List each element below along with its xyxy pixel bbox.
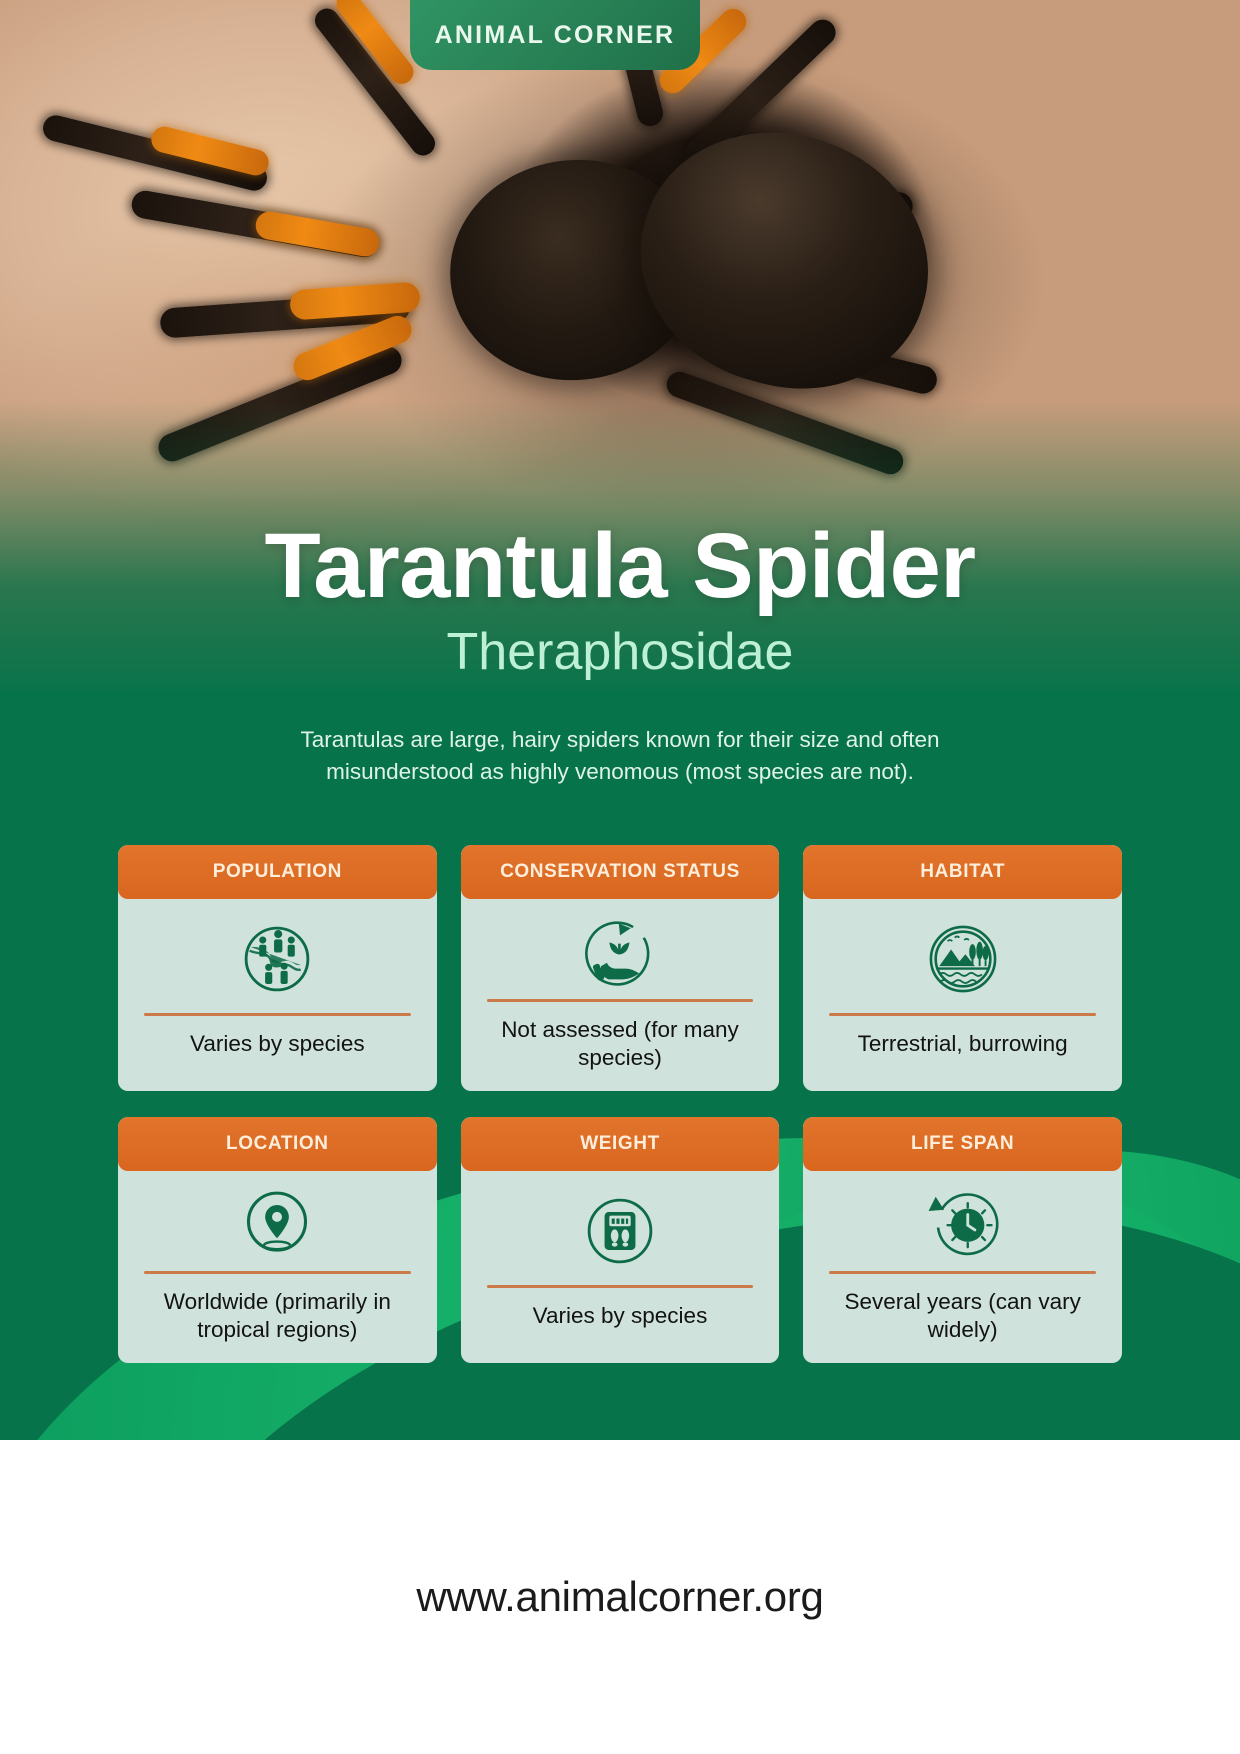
card-header: HABITAT [803, 845, 1122, 899]
card-value: Not assessed (for many species) [475, 1016, 766, 1072]
card-label: LOCATION [218, 1133, 337, 1155]
card-value-wrap: Terrestrial, burrowing [803, 1016, 1122, 1091]
weight-scale-icon [461, 1171, 780, 1285]
card-label: POPULATION [205, 861, 350, 883]
card-label: CONSERVATION STATUS [492, 861, 748, 883]
fact-card-weight[interactable]: WEIGHT [461, 1117, 780, 1363]
landscape-circle-icon [803, 899, 1122, 1013]
card-value: Several years (can vary widely) [817, 1288, 1108, 1344]
card-value-wrap: Worldwide (primarily in tropical regions… [118, 1274, 437, 1363]
card-value-wrap: Not assessed (for many species) [461, 1002, 780, 1091]
fact-card-population[interactable]: POPULATION Varies b [118, 845, 437, 1091]
card-value-wrap: Several years (can vary widely) [803, 1274, 1122, 1363]
map-pin-icon [118, 1171, 437, 1271]
fact-card-location[interactable]: LOCATION Worldwide (primarily in tropica… [118, 1117, 437, 1363]
fact-card-habitat[interactable]: HABITAT [803, 845, 1122, 1091]
card-value: Terrestrial, burrowing [858, 1030, 1068, 1058]
card-value: Worldwide (primarily in tropical regions… [132, 1288, 423, 1344]
card-value: Varies by species [190, 1030, 365, 1058]
fact-card-conservation-status[interactable]: CONSERVATION STATUS Not assessed (for ma… [461, 845, 780, 1091]
brand-label: ANIMAL CORNER [435, 21, 676, 50]
clock-arrow-icon [803, 1171, 1122, 1271]
fact-card-life-span[interactable]: LIFE SPAN Several years (can vary widely… [803, 1117, 1122, 1363]
fact-card-grid: POPULATION Varies b [118, 845, 1122, 1363]
page-title: Tarantula Spider [0, 520, 1240, 612]
card-value-wrap: Varies by species [461, 1288, 780, 1363]
infographic-poster: ANIMAL CORNER Tarantula Spider Theraphos… [0, 0, 1240, 1754]
card-header: LOCATION [118, 1117, 437, 1171]
brand-tab[interactable]: ANIMAL CORNER [410, 0, 700, 70]
card-label: WEIGHT [572, 1133, 668, 1155]
globe-people-icon [118, 899, 437, 1013]
card-label: HABITAT [912, 861, 1013, 883]
card-value: Varies by species [533, 1302, 708, 1330]
card-header: CONSERVATION STATUS [461, 845, 780, 899]
card-header: LIFE SPAN [803, 1117, 1122, 1171]
title-block: Tarantula Spider Theraphosidae Tarantula… [0, 520, 1240, 788]
website-url[interactable]: www.animalcorner.org [416, 1573, 823, 1621]
footer-bar: www.animalcorner.org [0, 1440, 1240, 1754]
hand-sprout-recycle-icon [461, 899, 780, 999]
card-label: LIFE SPAN [903, 1133, 1022, 1155]
scientific-name: Theraphosidae [0, 626, 1240, 678]
card-header: WEIGHT [461, 1117, 780, 1171]
card-header: POPULATION [118, 845, 437, 899]
card-value-wrap: Varies by species [118, 1016, 437, 1091]
description-text: Tarantulas are large, hairy spiders know… [240, 724, 1000, 788]
